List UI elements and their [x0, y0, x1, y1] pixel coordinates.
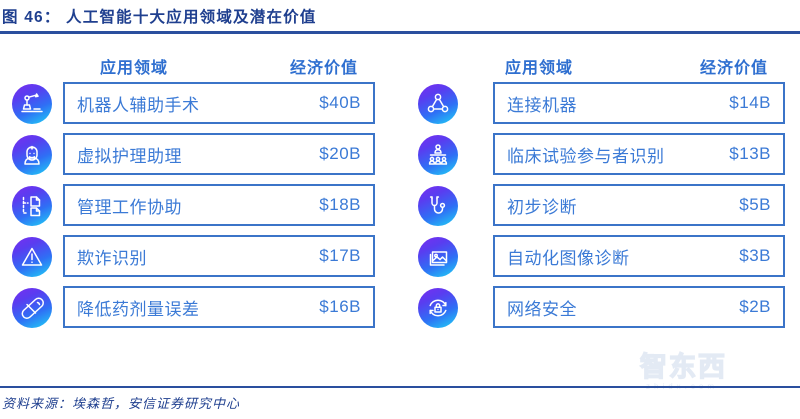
domain-value: $20B: [319, 144, 361, 164]
application-domains-board: 应用领域 经济价值 机器人辅助手术: [0, 36, 800, 376]
column-left: 应用领域 经济价值 机器人辅助手术: [0, 36, 400, 376]
domain-pill[interactable]: 欺诈识别 $17B: [63, 235, 375, 277]
column-left-rows: 机器人辅助手术 $40B 虚拟护理助理: [0, 82, 400, 337]
domain-pill[interactable]: 机器人辅助手术 $40B: [63, 82, 375, 124]
table-row[interactable]: 初步诊断 $5B: [400, 184, 800, 235]
column-right-rows: 连接机器 $14B: [400, 82, 800, 337]
table-row[interactable]: 临床试验参与者识别 $13B: [400, 133, 800, 184]
image-stack-icon: [418, 237, 458, 277]
domain-label: 管理工作协助: [77, 193, 182, 218]
domain-label: 虚拟护理助理: [77, 142, 182, 167]
header-domain-label: 应用领域: [505, 54, 573, 78]
domain-value: $18B: [319, 195, 361, 215]
domain-value: $3B: [739, 246, 771, 266]
domain-label: 欺诈识别: [77, 244, 147, 269]
domain-pill[interactable]: 初步诊断 $5B: [493, 184, 785, 226]
lock-refresh-icon: [418, 288, 458, 328]
column-right-header: 应用领域 经济价值: [400, 54, 800, 80]
table-row[interactable]: 管理工作协助 $18B: [0, 184, 400, 235]
domain-label: 临床试验参与者识别: [507, 142, 665, 167]
document-workflow-icon: [12, 186, 52, 226]
pill-capsule-icon: [12, 288, 52, 328]
nurse-icon: [12, 135, 52, 175]
stethoscope-icon: [418, 186, 458, 226]
footer-divider: [0, 386, 800, 388]
warning-triangle-icon: [12, 237, 52, 277]
domain-pill[interactable]: 网络安全 $2B: [493, 286, 785, 328]
domain-value: $5B: [739, 195, 771, 215]
domain-label: 降低药剂量误差: [77, 295, 200, 320]
table-row[interactable]: 虚拟护理助理 $20B: [0, 133, 400, 184]
domain-pill[interactable]: 管理工作协助 $18B: [63, 184, 375, 226]
header-domain-label: 应用领域: [100, 54, 168, 78]
domain-value: $2B: [739, 297, 771, 317]
domain-value: $14B: [729, 93, 771, 113]
domain-label: 网络安全: [507, 295, 577, 320]
domain-label: 机器人辅助手术: [77, 91, 200, 116]
table-row[interactable]: 降低药剂量误差 $16B: [0, 286, 400, 337]
domain-label: 连接机器: [507, 91, 577, 116]
domain-label: 初步诊断: [507, 193, 577, 218]
domain-pill[interactable]: 连接机器 $14B: [493, 82, 785, 124]
table-row[interactable]: 机器人辅助手术 $40B: [0, 82, 400, 133]
network-nodes-icon: [418, 84, 458, 124]
column-right: 应用领域 经济价值 连接机器 $14B: [400, 36, 800, 376]
header-value-label: 经济价值: [700, 54, 768, 78]
domain-value: $13B: [729, 144, 771, 164]
header-value-label: 经济价值: [290, 54, 358, 78]
page-title: 图 46： 人工智能十大应用领域及潜在价值: [0, 5, 317, 27]
domain-value: $16B: [319, 297, 361, 317]
table-row[interactable]: 欺诈识别 $17B: [0, 235, 400, 286]
figure-title-bar: 图 46： 人工智能十大应用领域及潜在价值: [0, 0, 800, 32]
domain-pill[interactable]: 虚拟护理助理 $20B: [63, 133, 375, 175]
domain-label: 自动化图像诊断: [507, 244, 630, 269]
source-note: 资料来源：埃森哲，安信证券研究中心: [2, 393, 240, 412]
table-row[interactable]: 网络安全 $2B: [400, 286, 800, 337]
robot-arm-icon: [12, 84, 52, 124]
table-row[interactable]: 自动化图像诊断 $3B: [400, 235, 800, 286]
domain-pill[interactable]: 自动化图像诊断 $3B: [493, 235, 785, 277]
domain-value: $40B: [319, 93, 361, 113]
presenter-audience-icon: [418, 135, 458, 175]
table-row[interactable]: 连接机器 $14B: [400, 82, 800, 133]
domain-pill[interactable]: 临床试验参与者识别 $13B: [493, 133, 785, 175]
domain-value: $17B: [319, 246, 361, 266]
title-divider: [0, 31, 800, 34]
column-left-header: 应用领域 经济价值: [0, 54, 400, 80]
domain-pill[interactable]: 降低药剂量误差 $16B: [63, 286, 375, 328]
